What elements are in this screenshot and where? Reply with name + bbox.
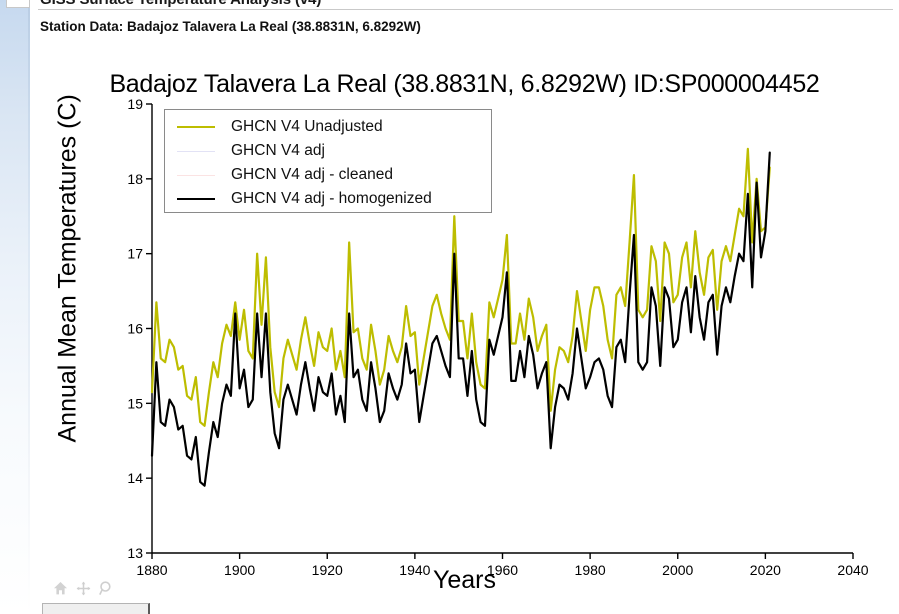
legend-swatch bbox=[177, 126, 215, 128]
x-tick-label: 2020 bbox=[750, 562, 781, 578]
x-tick-label: 1920 bbox=[312, 562, 343, 578]
left-sidebar bbox=[0, 0, 28, 614]
legend-label: GHCN V4 adj bbox=[231, 142, 325, 160]
legend-label: GHCN V4 adj - cleaned bbox=[231, 166, 393, 184]
legend-label: GHCN V4 adj - homogenized bbox=[231, 190, 432, 208]
coordinate-input[interactable] bbox=[42, 603, 150, 614]
home-icon[interactable] bbox=[50, 578, 70, 598]
legend-label: GHCN V4 Unadjusted bbox=[231, 118, 383, 136]
y-tick-label: 13 bbox=[127, 545, 143, 561]
site-title: GISS Surface Temperature Analysis (v4) bbox=[40, 0, 321, 8]
sidebar-top-box bbox=[6, 0, 30, 8]
figure-canvas: Badajoz Talavera La Real (38.8831N, 6.82… bbox=[30, 40, 899, 575]
legend-swatch bbox=[177, 198, 215, 200]
x-tick-label: 1880 bbox=[136, 562, 167, 578]
y-tick-label: 16 bbox=[127, 321, 143, 337]
y-tick-label: 19 bbox=[127, 96, 143, 112]
x-tick-label: 1960 bbox=[487, 562, 518, 578]
legend-item: GHCN V4 adj - homogenized bbox=[165, 187, 493, 211]
legend-swatch bbox=[177, 151, 215, 152]
y-tick-label: 17 bbox=[127, 246, 143, 262]
matplotlib-toolbar[interactable] bbox=[50, 578, 116, 598]
x-tick-label: 1940 bbox=[399, 562, 430, 578]
pan-icon[interactable] bbox=[73, 578, 93, 598]
legend-item: GHCN V4 Unadjusted bbox=[165, 115, 493, 139]
zoom-icon[interactable] bbox=[96, 578, 116, 598]
legend-item: GHCN V4 adj bbox=[165, 139, 493, 163]
x-tick-label: 2040 bbox=[837, 562, 868, 578]
y-tick-label: 15 bbox=[127, 395, 143, 411]
chart-legend: GHCN V4 UnadjustedGHCN V4 adjGHCN V4 adj… bbox=[164, 109, 492, 213]
y-tick-label: 14 bbox=[127, 470, 143, 486]
legend-item: GHCN V4 adj - cleaned bbox=[165, 163, 493, 187]
legend-swatch bbox=[177, 175, 215, 176]
x-tick-label: 2000 bbox=[662, 562, 693, 578]
header-divider bbox=[38, 9, 893, 10]
x-tick-label: 1900 bbox=[224, 562, 255, 578]
x-tick-label: 1980 bbox=[575, 562, 606, 578]
page-root: GISS Surface Temperature Analysis (v4) S… bbox=[0, 0, 899, 614]
y-tick-label: 18 bbox=[127, 171, 143, 187]
station-data-heading: Station Data: Badajoz Talavera La Real (… bbox=[40, 19, 421, 34]
